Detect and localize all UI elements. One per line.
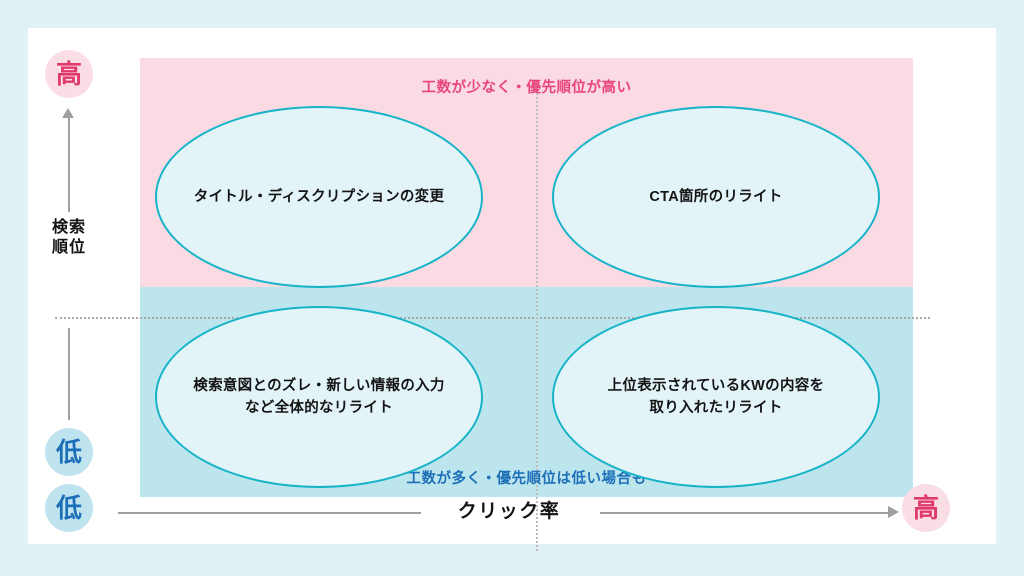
- x-axis: クリック率: [108, 496, 908, 538]
- x-axis-arrow-right-icon: [888, 506, 899, 518]
- bubble-top-left[interactable]: タイトル・ディスクリプションの変更: [155, 106, 483, 288]
- bubble-top-right-label: CTA箇所のリライト: [649, 186, 782, 208]
- bubble-bottom-right[interactable]: 上位表示されているKWの内容を 取り入れたリライト: [552, 306, 880, 488]
- x-axis-line-left: [118, 512, 421, 514]
- caption-upper-band: 工数が少なく・優先順位が高い: [140, 76, 913, 97]
- bubble-top-right[interactable]: CTA箇所のリライト: [552, 106, 880, 288]
- x-axis-line-right: [600, 512, 890, 514]
- bubble-bottom-left[interactable]: 検索意図とのズレ・新しい情報の入力 など全体的なリライト: [155, 306, 483, 488]
- bubble-top-left-label: タイトル・ディスクリプションの変更: [194, 186, 445, 208]
- x-axis-label: クリック率: [426, 496, 592, 523]
- y-axis-label: 検索順位: [52, 218, 86, 257]
- x-axis-low-badge: 低: [45, 484, 93, 532]
- y-axis-low-badge: 低: [45, 428, 93, 476]
- bubble-bottom-right-label: 上位表示されているKWの内容を 取り入れたリライト: [608, 375, 825, 420]
- y-axis-line-upper: [68, 116, 70, 212]
- bubble-bottom-left-label: 検索意図とのズレ・新しい情報の入力 など全体的なリライト: [193, 375, 444, 420]
- y-axis-high-badge: 高: [45, 50, 93, 98]
- quadrant-plot-area: 工数が少なく・優先順位が高い 工数が多く・優先順位は低い場合も タイトル・ディス…: [140, 58, 913, 497]
- y-axis: 検索順位: [52, 106, 86, 422]
- slide-canvas: 工数が少なく・優先順位が高い 工数が多く・優先順位は低い場合も タイトル・ディス…: [28, 28, 996, 544]
- y-axis-line-lower: [68, 328, 70, 420]
- x-axis-high-badge: 高: [902, 484, 950, 532]
